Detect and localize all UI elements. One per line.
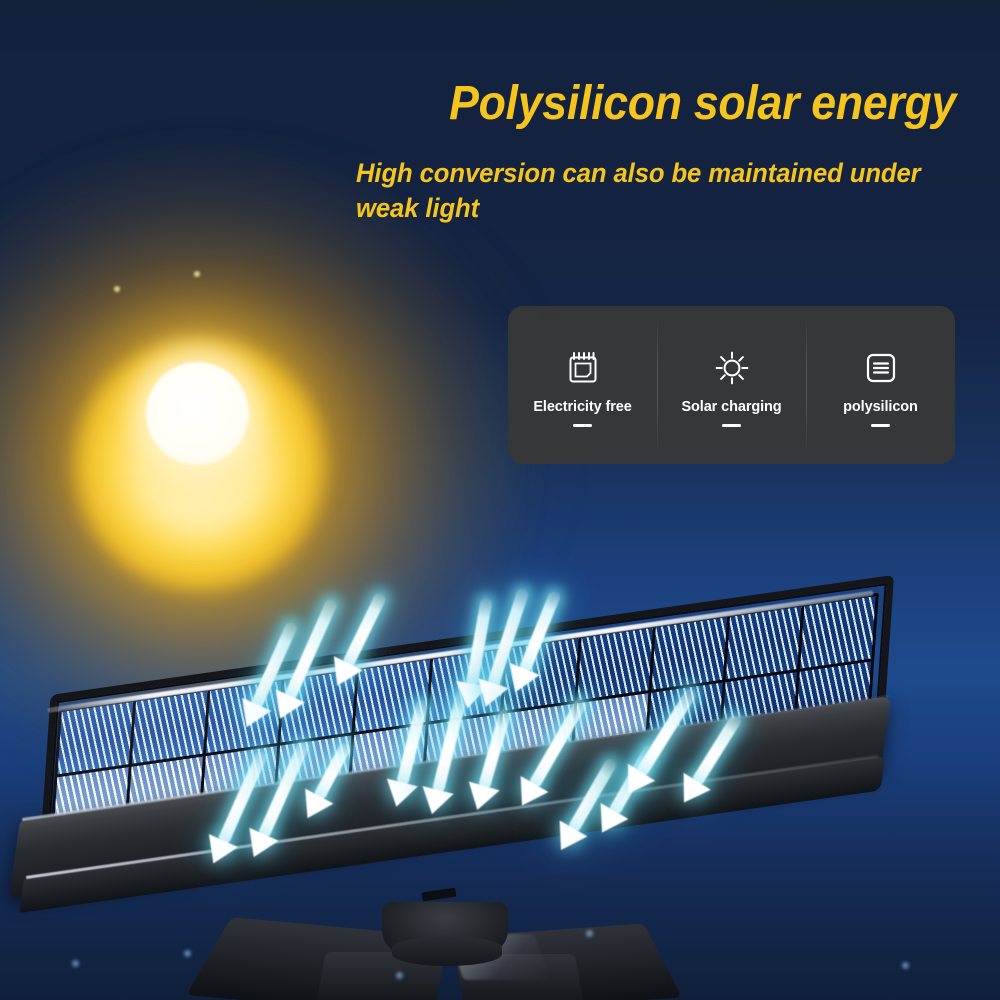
sun-core bbox=[146, 362, 249, 465]
accent-dot bbox=[586, 930, 593, 937]
accent-dot bbox=[72, 960, 79, 967]
mount-swivel-ring bbox=[392, 936, 502, 966]
solar-panel bbox=[0, 690, 1000, 1000]
panel-vent-notch bbox=[422, 888, 457, 902]
feature-item-electricity-free[interactable]: Electricity free bbox=[508, 306, 657, 464]
accent-dot bbox=[184, 950, 191, 957]
feature-underline bbox=[573, 424, 592, 428]
sun-icon bbox=[715, 349, 749, 387]
feature-label: polysilicon bbox=[843, 399, 918, 415]
list-lines-icon bbox=[865, 349, 897, 387]
accent-dot bbox=[396, 972, 403, 979]
promo-image-canvas: Polysilicon solar energy High conversion… bbox=[0, 0, 1000, 1000]
accent-dot bbox=[902, 962, 909, 969]
feature-label: Solar charging bbox=[681, 399, 781, 415]
lens-spark-icon bbox=[194, 271, 200, 277]
lens-spark-icon bbox=[114, 286, 120, 292]
page-subtitle: High conversion can also be maintained u… bbox=[356, 156, 955, 226]
feature-item-solar-charging[interactable]: Solar charging bbox=[657, 306, 806, 464]
feature-card: Electricity free Solar charging bbox=[508, 306, 955, 464]
feature-underline bbox=[871, 424, 890, 428]
feature-underline bbox=[722, 424, 741, 428]
notepad-icon bbox=[568, 349, 598, 387]
feature-label: Electricity free bbox=[533, 399, 631, 415]
feature-item-polysilicon[interactable]: polysilicon bbox=[806, 306, 955, 464]
page-title: Polysilicon solar energy bbox=[67, 80, 956, 128]
